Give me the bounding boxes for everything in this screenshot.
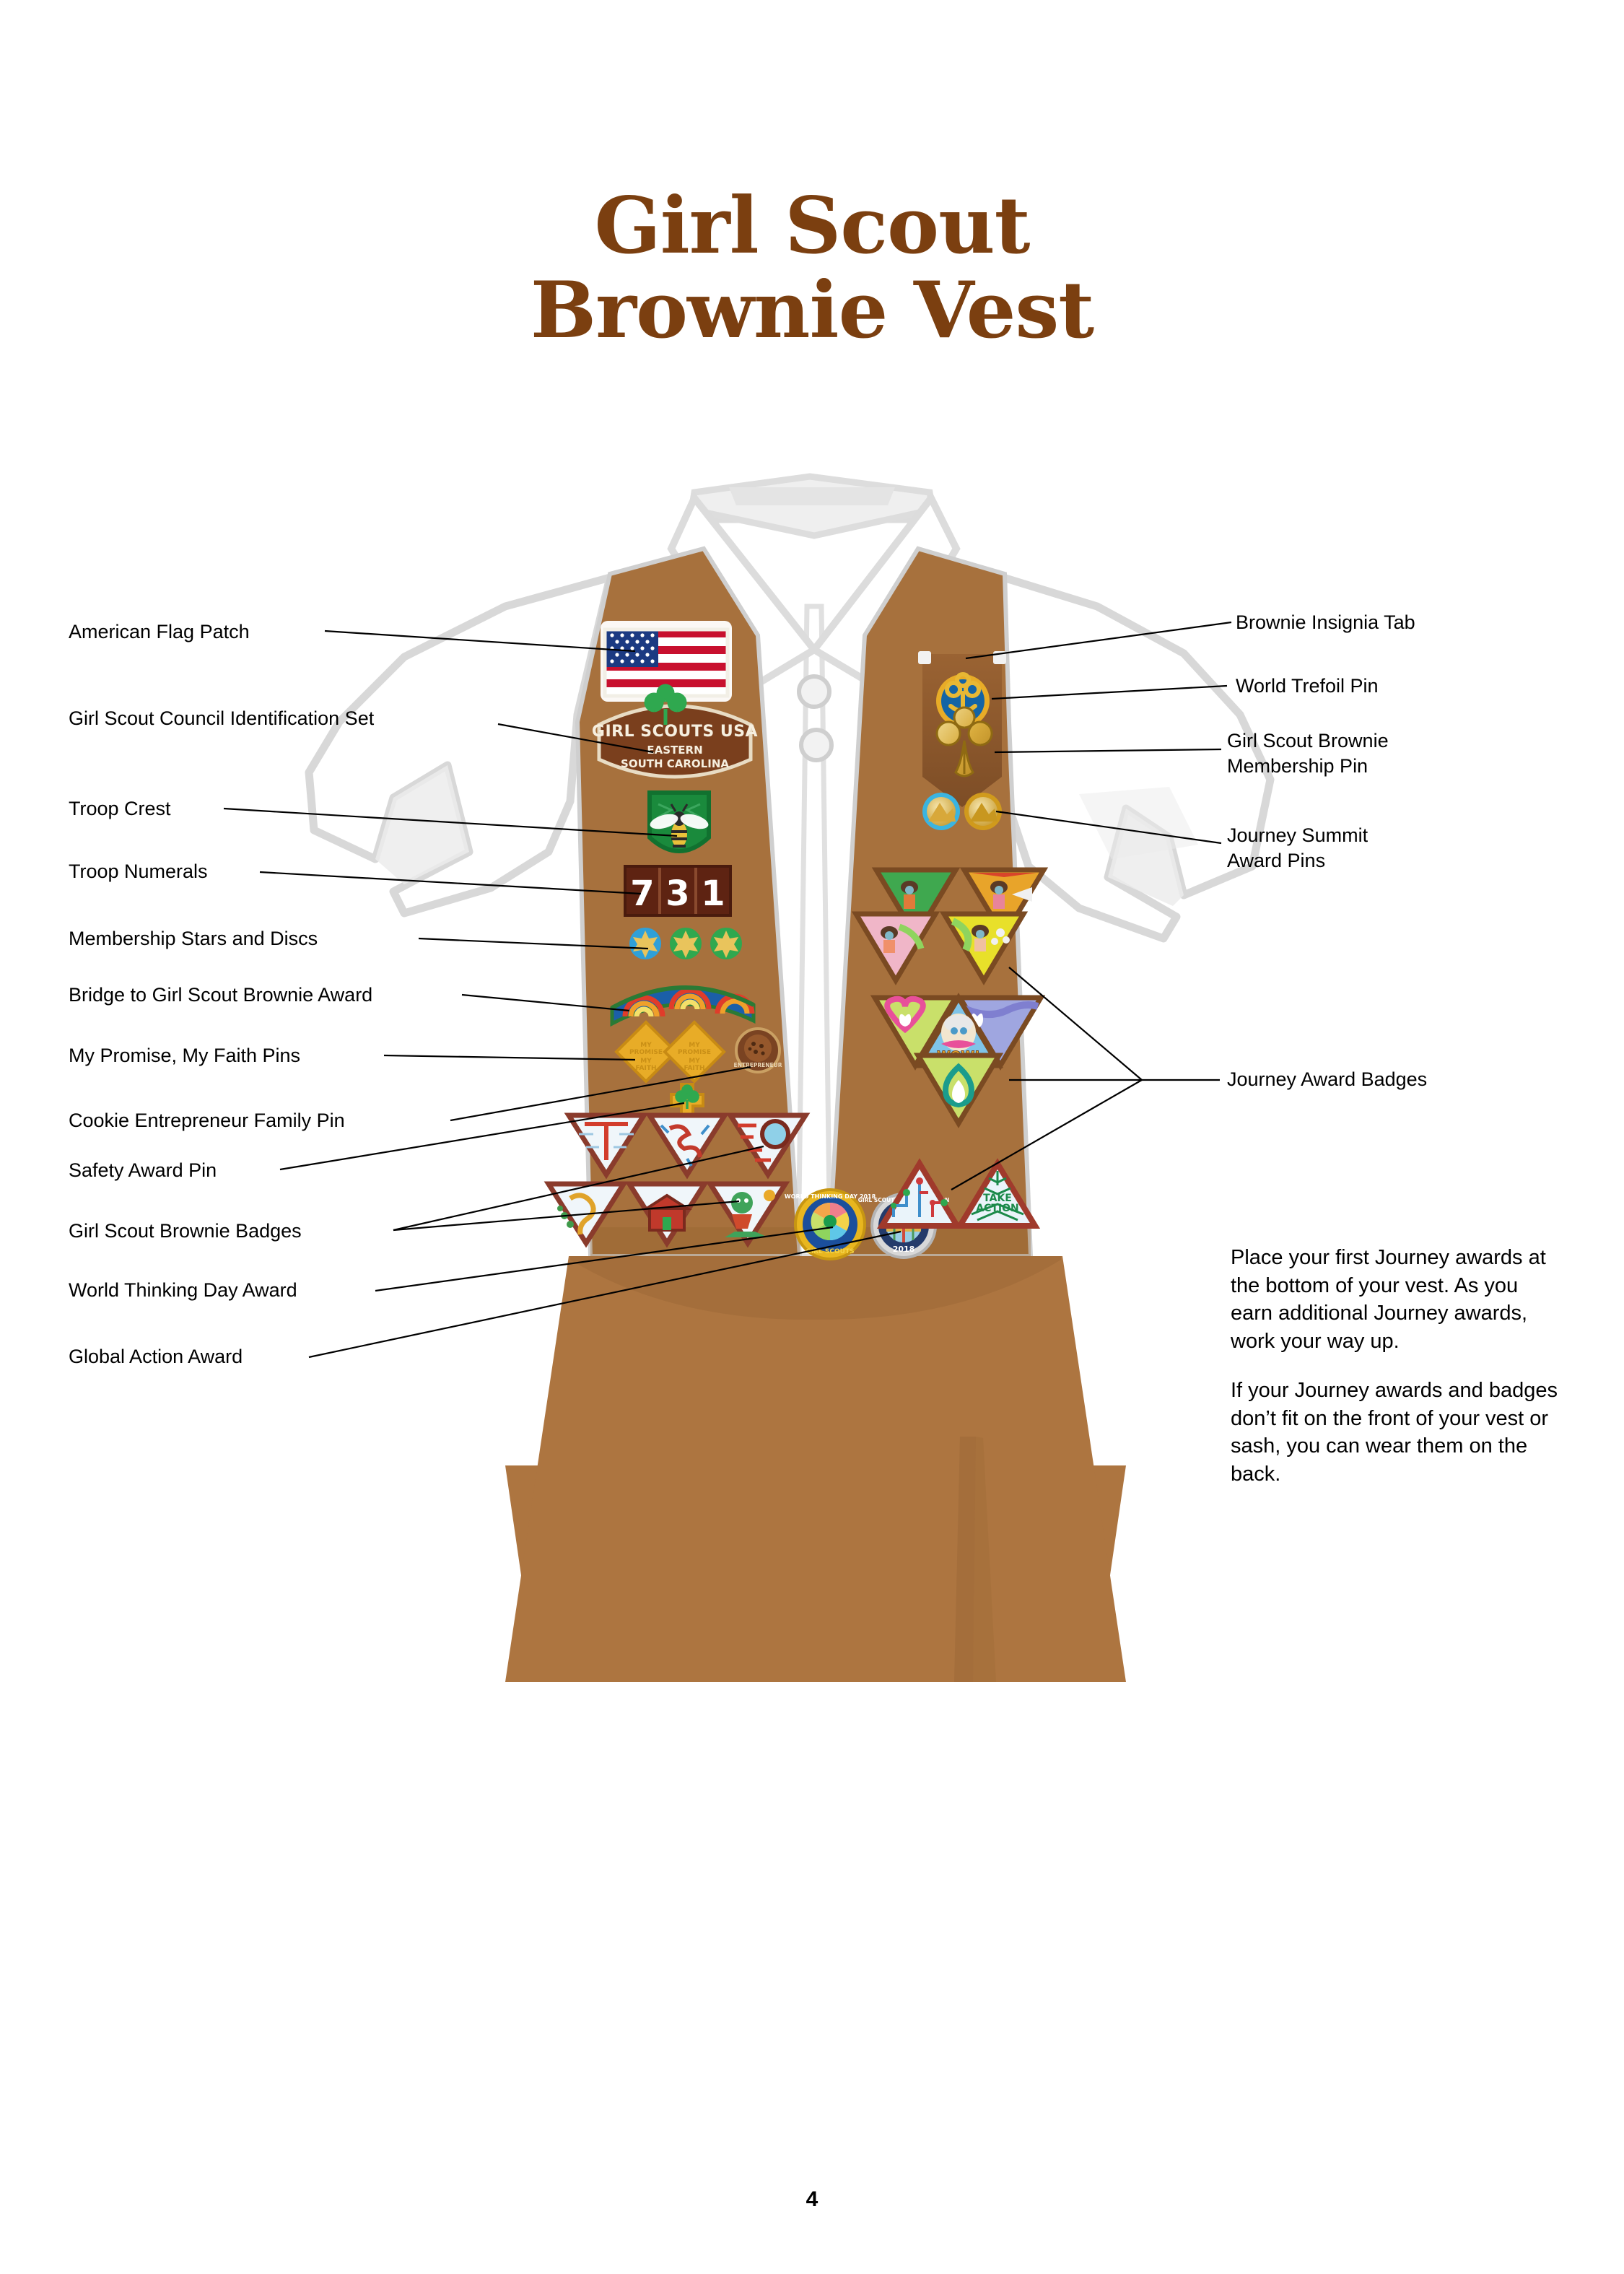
brownie-vest — [577, 549, 1031, 1262]
my-promise-my-faith-pins: MY PROMISE MY FAITH MY PROMISE MY FAITH — [616, 1022, 724, 1081]
svg-text:FAITH: FAITH — [635, 1065, 656, 1072]
callout-girl-scout-brownie-membership-pin: Girl Scout Brownie Membership Pin — [1227, 728, 1389, 778]
brownie-insignia-tab — [918, 651, 1006, 807]
page-number: 4 — [0, 2187, 1624, 2212]
journey-award-badges-bottom-pair: TAKE ACTION — [882, 1164, 1035, 1226]
sleeve-outlines — [309, 578, 1270, 938]
callout-my-promise-my-faith-pins: My Promise, My Faith Pins — [69, 1043, 300, 1068]
svg-text:TAKE: TAKE — [983, 1193, 1012, 1204]
svg-text:GIRL SCOUTS GLOBAL ACTION: GIRL SCOUTS GLOBAL ACTION — [858, 1197, 949, 1203]
callout-journey-summit-award-pins: Journey Summit Award Pins — [1227, 823, 1368, 873]
callout-council-identification-set: Girl Scout Council Identification Set — [69, 706, 374, 731]
callout-american-flag-patch: American Flag Patch — [69, 619, 250, 645]
callout-girl-scout-brownie-badges: Girl Scout Brownie Badges — [69, 1219, 302, 1244]
svg-text:1: 1 — [701, 874, 725, 914]
journey-award-badges-lower-cluster: WOW! — [875, 998, 1041, 1123]
callout-membership-stars-and-discs: Membership Stars and Discs — [69, 926, 318, 951]
callout-world-trefoil-pin: World Trefoil Pin — [1236, 674, 1379, 699]
svg-text:EASTERN: EASTERN — [647, 744, 702, 757]
shirt-collar — [671, 476, 956, 686]
sleeve-fold-shadows — [375, 765, 1198, 906]
svg-text:MY: MY — [640, 1042, 652, 1049]
svg-text:SOUTH CAROLINA: SOUTH CAROLINA — [621, 757, 729, 770]
skirt-waist-shadow — [570, 1256, 1061, 1320]
girl-scout-brownie-badges — [549, 1115, 806, 1243]
troop-crest-patch — [648, 793, 710, 851]
safety-award-pin — [671, 1084, 703, 1116]
note-paragraph-2: If your Journey awards and badges don’t … — [1231, 1377, 1559, 1488]
girl-scout-brownie-membership-pin — [937, 707, 992, 776]
page-title: Girl Scout Brownie Vest — [0, 184, 1624, 352]
cookie-entrepreneur-family-pin: ENTREPRENEUR — [733, 1029, 782, 1072]
world-trefoil-pin — [936, 674, 990, 728]
callout-bridge-to-girl-scout-brownie-award: Bridge to Girl Scout Brownie Award — [69, 983, 372, 1008]
svg-text:MY: MY — [689, 1058, 700, 1065]
journey-award-badges-upper-cluster — [856, 870, 1044, 980]
page: Girl Scout Brownie Vest — [0, 0, 1624, 2274]
note-paragraph-1: Place your first Journey awards at the b… — [1231, 1244, 1559, 1355]
svg-text:ACTION: ACTION — [976, 1203, 1019, 1214]
svg-text:WOW!: WOW! — [937, 1049, 980, 1063]
skirt — [505, 1256, 1126, 1682]
callout-safety-award-pin: Safety Award Pin — [69, 1158, 217, 1183]
callout-cookie-entrepreneur-family-pin: Cookie Entrepreneur Family Pin — [69, 1108, 345, 1133]
council-identification-set-patch: GIRL SCOUTS USA EASTERN SOUTH CAROLINA — [592, 686, 758, 777]
callout-journey-award-badges: Journey Award Badges — [1227, 1067, 1427, 1092]
svg-text:WORLD THINKING DAY 2018: WORLD THINKING DAY 2018 — [785, 1193, 876, 1200]
vest-panel-left — [577, 549, 800, 1256]
svg-text:FAITH: FAITH — [684, 1065, 704, 1072]
svg-text:GIRL SCOUTS USA: GIRL SCOUTS USA — [592, 723, 758, 741]
svg-text:3: 3 — [665, 874, 689, 914]
leader-lines — [224, 622, 1231, 1357]
american-flag-patch — [601, 621, 732, 702]
page-title-line-1: Girl Scout — [595, 180, 1030, 271]
skirt-pleat — [954, 1437, 976, 1682]
bridge-to-brownie-award-patch — [612, 988, 754, 1024]
shirt-button — [799, 676, 829, 707]
svg-text:MY: MY — [689, 1042, 700, 1049]
svg-text:7: 7 — [630, 874, 654, 914]
svg-text:2018: 2018 — [893, 1245, 915, 1254]
callout-troop-crest: Troop Crest — [69, 796, 171, 822]
callout-world-thinking-day-award: World Thinking Day Award — [69, 1278, 297, 1303]
callout-brownie-insignia-tab: Brownie Insignia Tab — [1236, 610, 1415, 635]
shirt-button — [801, 730, 831, 760]
vest-panel-right — [829, 549, 1031, 1256]
world-thinking-day-award-patch: WORLD THINKING DAY 2018 GIRL SCOUTS — [785, 1190, 876, 1259]
svg-text:PROMISE: PROMISE — [678, 1049, 711, 1056]
svg-text:MY: MY — [640, 1058, 652, 1065]
callout-troop-numerals: Troop Numerals — [69, 859, 208, 884]
svg-text:GIRL SCOUTS: GIRL SCOUTS — [806, 1248, 854, 1255]
journey-summit-award-pins — [922, 793, 1002, 830]
global-action-award-patch: GIRL SCOUTS GLOBAL ACTION 2018 — [858, 1194, 949, 1258]
svg-text:PROMISE: PROMISE — [629, 1049, 663, 1056]
svg-text:ENTREPRENEUR: ENTREPRENEUR — [733, 1062, 782, 1068]
journey-placement-note: Place your first Journey awards at the b… — [1231, 1244, 1559, 1489]
troop-numerals-patch: 7 3 1 — [625, 866, 730, 915]
page-title-line-2: Brownie Vest — [0, 269, 1624, 353]
white-shirt — [671, 520, 960, 1271]
callout-global-action-award: Global Action Award — [69, 1344, 243, 1369]
membership-stars-and-discs — [629, 928, 742, 959]
